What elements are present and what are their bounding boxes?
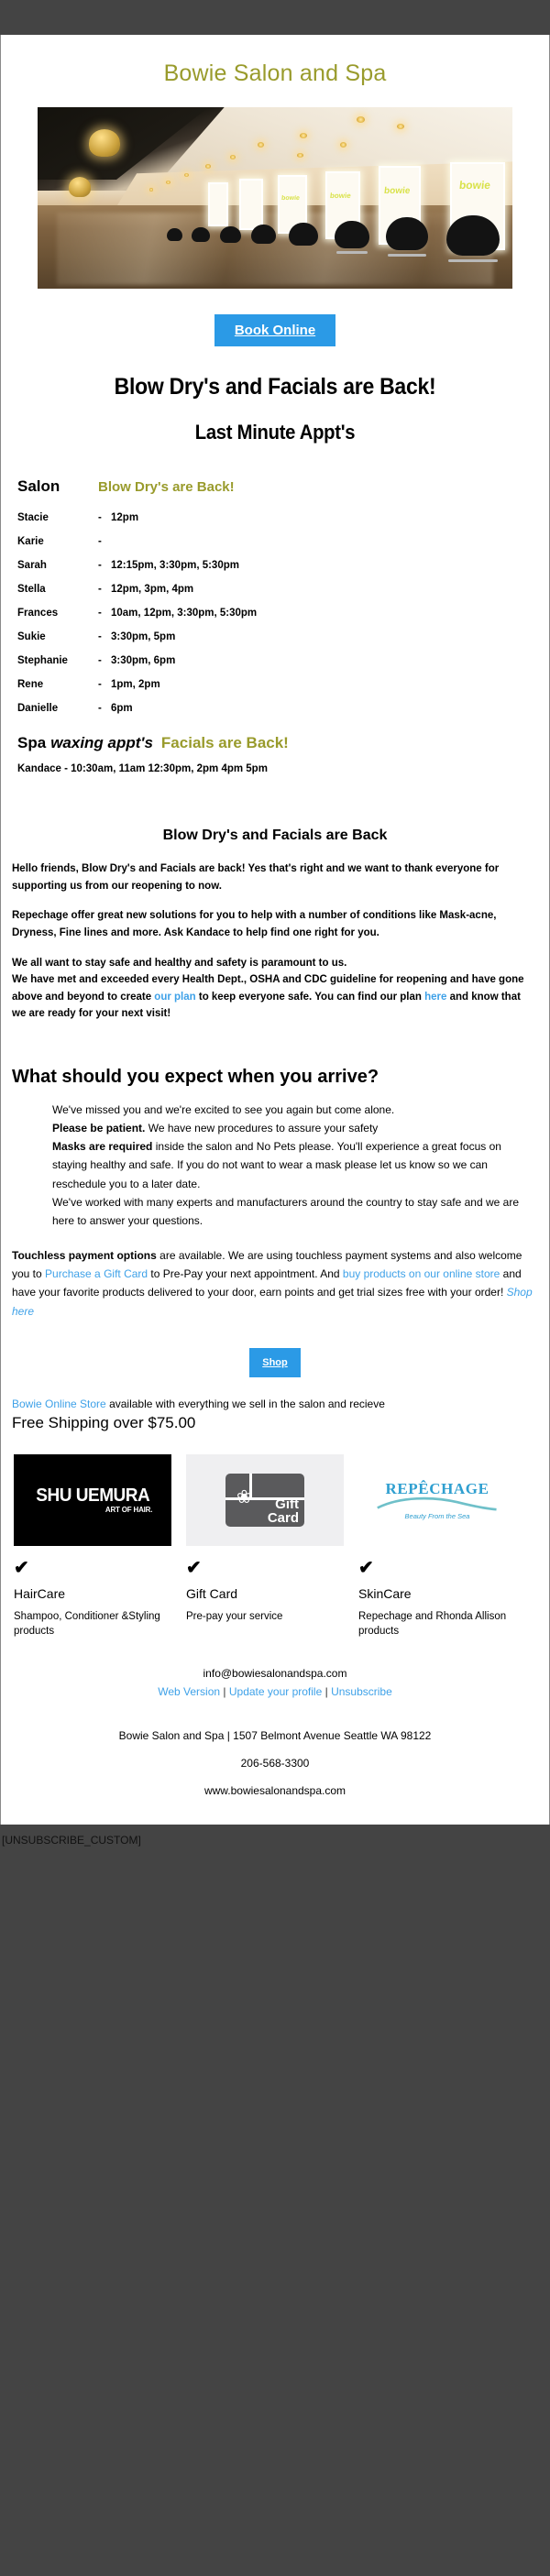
shop-button[interactable]: Shop (249, 1348, 301, 1377)
recessed-light-9 (184, 173, 189, 177)
recessed-light-3 (300, 133, 307, 138)
card-title: HairCare (14, 1577, 171, 1601)
table-row: Sarah - 12:15pm, 3:30pm, 5:30pm (17, 560, 549, 571)
check-icon: ✔ (358, 1546, 516, 1577)
section-heading: Blow Dry's and Facials are Back (1, 774, 549, 844)
row-dash: - (98, 679, 111, 690)
safety-line-3: to keep everyone safe. You can find our … (196, 992, 424, 1003)
paragraph-repechage: Repechage offer great new solutions for … (12, 907, 534, 941)
spa-banner: Facials are Back! (161, 734, 289, 752)
product-cards: SHU UEMURA ART OF HAIR. ✔ HairCare Shamp… (1, 1432, 549, 1639)
table-row: Frances - 10am, 12pm, 3:30pm, 5:30pm (17, 608, 549, 619)
book-online-button[interactable]: Book Online (214, 314, 335, 346)
expect-line-1: We've missed you and we're excited to se… (52, 1103, 394, 1116)
stylist-times: 12pm (111, 512, 549, 523)
salon-chair-5 (251, 225, 276, 244)
shu-uemura-line1: SHU UEMURA (36, 1486, 149, 1505)
salon-chair-1 (446, 215, 500, 256)
recessed-light-7 (230, 155, 236, 159)
expect-copy: We've missed you and we're excited to se… (1, 1088, 549, 1230)
gift-card-graphic: ❀ Gift Card (225, 1474, 304, 1527)
gift-card-line2: Card (268, 1510, 299, 1526)
paragraph-intro: Hello friends, Blow Dry's and Facials ar… (12, 860, 534, 894)
card-haircare[interactable]: SHU UEMURA ART OF HAIR. ✔ HairCare Shamp… (14, 1454, 171, 1639)
card-gift-card[interactable]: ❀ Gift Card ✔ Gift Card Pre-pay your ser… (186, 1454, 344, 1639)
table-row: Karie - (17, 536, 549, 547)
footer-email: info@bowiesalonandspa.com (1, 1667, 549, 1680)
chandelier-light-1 (89, 129, 120, 157)
table-row: Sukie - 3:30pm, 5pm (17, 631, 549, 642)
gift-card-label: Gift Card (268, 1497, 299, 1525)
chair-base-2 (388, 254, 426, 257)
chair-base-1 (448, 259, 498, 262)
body-copy: Hello friends, Blow Dry's and Facials ar… (1, 844, 549, 1023)
touchless-block: Touchless payment options are available.… (12, 1246, 533, 1321)
please-be-patient: Please be patient. (52, 1122, 145, 1135)
recessed-light-10 (166, 181, 170, 184)
unsubscribe-link[interactable]: Unsubscribe (331, 1685, 392, 1698)
paragraph-safety: We all want to stay safe and healthy and… (12, 955, 534, 1024)
styling-mirror-5 (239, 179, 263, 230)
table-row: Stella - 12pm, 3pm, 4pm (17, 584, 549, 595)
row-dash: - (98, 584, 111, 595)
expect-block: We've missed you and we're excited to se… (52, 1101, 529, 1230)
stylist-name: Frances (17, 608, 98, 619)
row-dash: - (98, 631, 111, 642)
row-dash: - (98, 560, 111, 571)
email-footer: info@bowiesalonandspa.com Web Version | … (1, 1639, 549, 1825)
our-plan-link[interactable]: our plan (154, 992, 195, 1003)
stylist-times: 3:30pm, 6pm (111, 655, 549, 666)
footer-separator: | (325, 1685, 328, 1698)
gift-bow-icon: ❀ (236, 1488, 257, 1508)
stylist-name: Stella (17, 584, 98, 595)
stylist-times: 10am, 12pm, 3:30pm, 5:30pm (111, 608, 549, 619)
headline-secondary: Last Minute Appt's (23, 400, 527, 444)
salon-schedule-header: Salon Blow Dry's are Back! (17, 477, 549, 496)
stylist-times: 12:15pm, 3:30pm, 5:30pm (111, 560, 549, 571)
update-profile-link[interactable]: Update your profile (229, 1685, 322, 1698)
mirror-decal-4: bowie (281, 195, 301, 202)
recessed-light-4 (340, 142, 346, 148)
repechage-wordmark: REPÊCHAGE Beauty From the Sea (376, 1480, 498, 1520)
stylist-times: 6pm (111, 703, 549, 714)
chandelier-light-2 (69, 177, 91, 197)
footer-links: Web Version | Update your profile | Unsu… (1, 1680, 549, 1698)
hero-image-wrap: bowie bowie bowie bowie (1, 107, 549, 289)
table-row: Danielle - 6pm (17, 703, 549, 714)
salon-banner: Blow Dry's are Back! (98, 479, 235, 495)
card-skincare[interactable]: REPÊCHAGE Beauty From the Sea ✔ SkinCare… (358, 1454, 516, 1639)
stylist-name: Karie (17, 536, 98, 547)
floor-reflection (57, 213, 494, 285)
recessed-light-6 (297, 153, 303, 158)
store-rest: available with everything we sell in the… (106, 1398, 385, 1410)
salon-label: Salon (17, 477, 98, 496)
recessed-light-8 (205, 164, 211, 169)
mirror-decal-3: bowie (330, 192, 352, 200)
spa-stylist-row: Kandace - 10:30am, 11am 12:30pm, 2pm 4pm… (17, 763, 549, 774)
stylist-times: 12pm, 3pm, 4pm (111, 584, 549, 595)
shop-button-row: Shop (1, 1321, 549, 1377)
spa-schedule-header: Spa waxing appt's Facials are Back! (17, 734, 549, 752)
card-description: Repechage and Rhonda Allison products (358, 1601, 516, 1639)
salon-chair-8 (167, 228, 182, 241)
expect-heading: What should you expect when you arrive? (1, 1036, 549, 1088)
recessed-light-11 (149, 188, 153, 192)
gift-card-logo: ❀ Gift Card (186, 1454, 344, 1546)
chair-base-3 (336, 251, 368, 254)
shu-uemura-line2: ART OF HAIR. (33, 1507, 153, 1514)
masks-required: Masks are required (52, 1140, 152, 1153)
row-dash: - (98, 655, 111, 666)
web-version-link[interactable]: Web Version (158, 1685, 220, 1698)
stylist-name: Sarah (17, 560, 98, 571)
email-body-sheet: Bowie Salon and Spa (0, 35, 550, 1825)
mirror-decal-2: bowie (383, 186, 410, 196)
table-row: Stacie - 12pm (17, 512, 549, 523)
row-dash: - (98, 512, 111, 523)
touchless-copy: Touchless payment options are available.… (1, 1241, 549, 1321)
check-icon: ✔ (186, 1546, 344, 1577)
top-chrome-bar (0, 0, 550, 35)
stylist-times: 1pm, 2pm (111, 679, 549, 690)
salon-chair-6 (220, 226, 241, 243)
salon-chair-3 (335, 221, 369, 248)
mirror-decal-1: bowie (458, 179, 490, 192)
row-dash: - (98, 536, 111, 547)
page-title: Bowie Salon and Spa (1, 35, 549, 107)
bottom-chrome-bar: [UNSUBSCRIBE_CUSTOM] (0, 1825, 550, 1891)
salon-interior-photo: bowie bowie bowie bowie (38, 107, 512, 289)
expect-line-2: We have new procedures to assure your sa… (145, 1122, 378, 1135)
free-shipping-text: Free Shipping over $75.00 (1, 1410, 549, 1432)
email-page: Bowie Salon and Spa (0, 0, 550, 1891)
recessed-light-1 (357, 116, 365, 123)
touchless-bold: Touchless payment options (12, 1249, 157, 1262)
shu-uemura-wordmark: SHU UEMURA ART OF HAIR. (33, 1486, 153, 1514)
recessed-light-5 (258, 142, 264, 148)
card-title: Gift Card (186, 1577, 344, 1601)
row-dash: - (98, 608, 111, 619)
here-link[interactable]: here (424, 992, 446, 1003)
table-row: Rene - 1pm, 2pm (17, 679, 549, 690)
touchless-b: to Pre-Pay your next appointment. And (148, 1267, 343, 1280)
footer-address: Bowie Salon and Spa | 1507 Belmont Avenu… (1, 1698, 549, 1742)
footer-phone: 206-568-3300 (1, 1742, 549, 1770)
appointment-schedule: Salon Blow Dry's are Back! Stacie - 12pm… (1, 444, 549, 774)
safety-line-1: We all want to stay safe and healthy and… (12, 958, 346, 969)
footer-website: www.bowiesalonandspa.com (1, 1770, 549, 1825)
footer-separator: | (223, 1685, 225, 1698)
bowie-online-store-link[interactable]: Bowie Online Store (12, 1398, 106, 1410)
repechage-tagline: Beauty From the Sea (376, 1512, 498, 1520)
expect-line-4: We've worked with many experts and manuf… (52, 1196, 519, 1227)
table-row: Stephanie - 3:30pm, 6pm (17, 655, 549, 666)
online-store-line: Bowie Online Store available with everyt… (1, 1377, 549, 1410)
spa-label: Spa (17, 734, 46, 752)
stylist-name: Sukie (17, 631, 98, 642)
book-online-row: Book Online (1, 289, 549, 346)
salon-chair-7 (192, 227, 210, 242)
salon-chair-2 (386, 217, 428, 250)
shu-uemura-logo: SHU UEMURA ART OF HAIR. (14, 1454, 171, 1546)
styling-mirror-6 (208, 182, 228, 226)
card-title: SkinCare (358, 1577, 516, 1601)
recessed-light-2 (397, 124, 404, 129)
stylist-name: Danielle (17, 703, 98, 714)
row-dash: - (98, 703, 111, 714)
stylist-name: Stacie (17, 512, 98, 523)
card-description: Shampoo, Conditioner &Styling products (14, 1601, 171, 1639)
repechage-name: REPÊCHAGE (376, 1480, 498, 1498)
stylist-name: Rene (17, 679, 98, 690)
headline-primary: Blow Dry's and Facials are Back! (23, 346, 527, 400)
stylist-name: Stephanie (17, 655, 98, 666)
unsubscribe-token: [UNSUBSCRIBE_CUSTOM] (2, 1834, 141, 1847)
salon-chair-4 (289, 223, 318, 246)
check-icon: ✔ (14, 1546, 171, 1577)
spa-waxing-label: waxing appt's (50, 734, 153, 752)
repechage-wave-icon (376, 1496, 498, 1511)
card-description: Pre-pay your service (186, 1601, 344, 1625)
repechage-logo: REPÊCHAGE Beauty From the Sea (358, 1454, 516, 1546)
purchase-gift-card-link[interactable]: Purchase a Gift Card (45, 1267, 148, 1280)
stylist-times: 3:30pm, 5pm (111, 631, 549, 642)
online-store-link[interactable]: buy products on our online store (343, 1267, 500, 1280)
